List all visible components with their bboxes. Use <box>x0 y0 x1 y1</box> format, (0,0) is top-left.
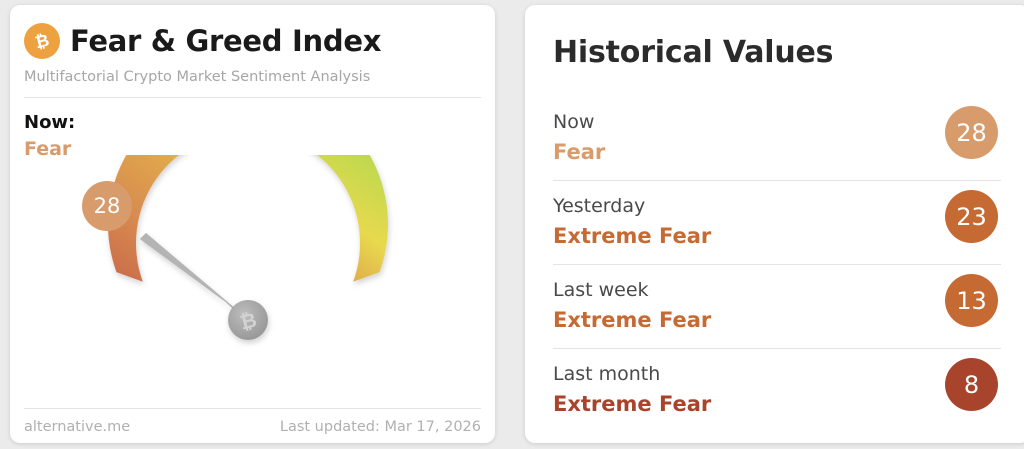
history-value-badge: 23 <box>945 190 998 243</box>
history-value-badge: 8 <box>945 358 998 411</box>
history-classification: Fear <box>553 140 605 164</box>
svg-text:₿: ₿ <box>33 31 51 53</box>
history-value-badge: 28 <box>945 106 998 159</box>
fear-greed-gauge-card: ₿ Fear & Greed Index Multifactorial Cryp… <box>10 5 495 443</box>
gauge-arc <box>108 155 388 282</box>
history-classification: Extreme Fear <box>553 308 711 332</box>
page-title: Fear & Greed Index <box>70 24 381 58</box>
history-period-label: Last week <box>553 279 649 301</box>
history-classification: Extreme Fear <box>553 224 711 248</box>
history-period-label: Yesterday <box>553 195 645 217</box>
header-divider <box>24 97 481 98</box>
gauge-chart: ₿ <box>10 155 495 400</box>
source-link[interactable]: alternative.me <box>24 419 130 435</box>
history-period-label: Last month <box>553 363 660 385</box>
history-value-badge: 13 <box>945 274 998 327</box>
historical-values-list: Now Fear 28 Yesterday Extreme Fear 23 La… <box>553 97 1001 432</box>
historical-values-card: Historical Values Now Fear 28 Yesterday … <box>525 5 1024 443</box>
list-item[interactable]: Now Fear 28 <box>553 97 1001 180</box>
gauge-header: ₿ Fear & Greed Index <box>24 23 381 59</box>
page-subtitle: Multifactorial Crypto Market Sentiment A… <box>24 69 370 85</box>
gauge-hub: ₿ <box>228 300 268 340</box>
history-period-label: Now <box>553 111 594 133</box>
list-item[interactable]: Last month Extreme Fear 8 <box>553 348 1001 432</box>
footer-divider <box>24 408 481 409</box>
bitcoin-icon: ₿ <box>24 23 60 59</box>
list-item[interactable]: Yesterday Extreme Fear 23 <box>553 180 1001 264</box>
historical-values-title: Historical Values <box>553 35 833 70</box>
history-classification: Extreme Fear <box>553 392 711 416</box>
last-updated-text: Last updated: Mar 17, 2026 <box>280 419 481 435</box>
gauge-value-badge: 28 <box>82 181 132 231</box>
list-item[interactable]: Last week Extreme Fear 13 <box>553 264 1001 348</box>
now-label: Now: <box>24 112 75 133</box>
